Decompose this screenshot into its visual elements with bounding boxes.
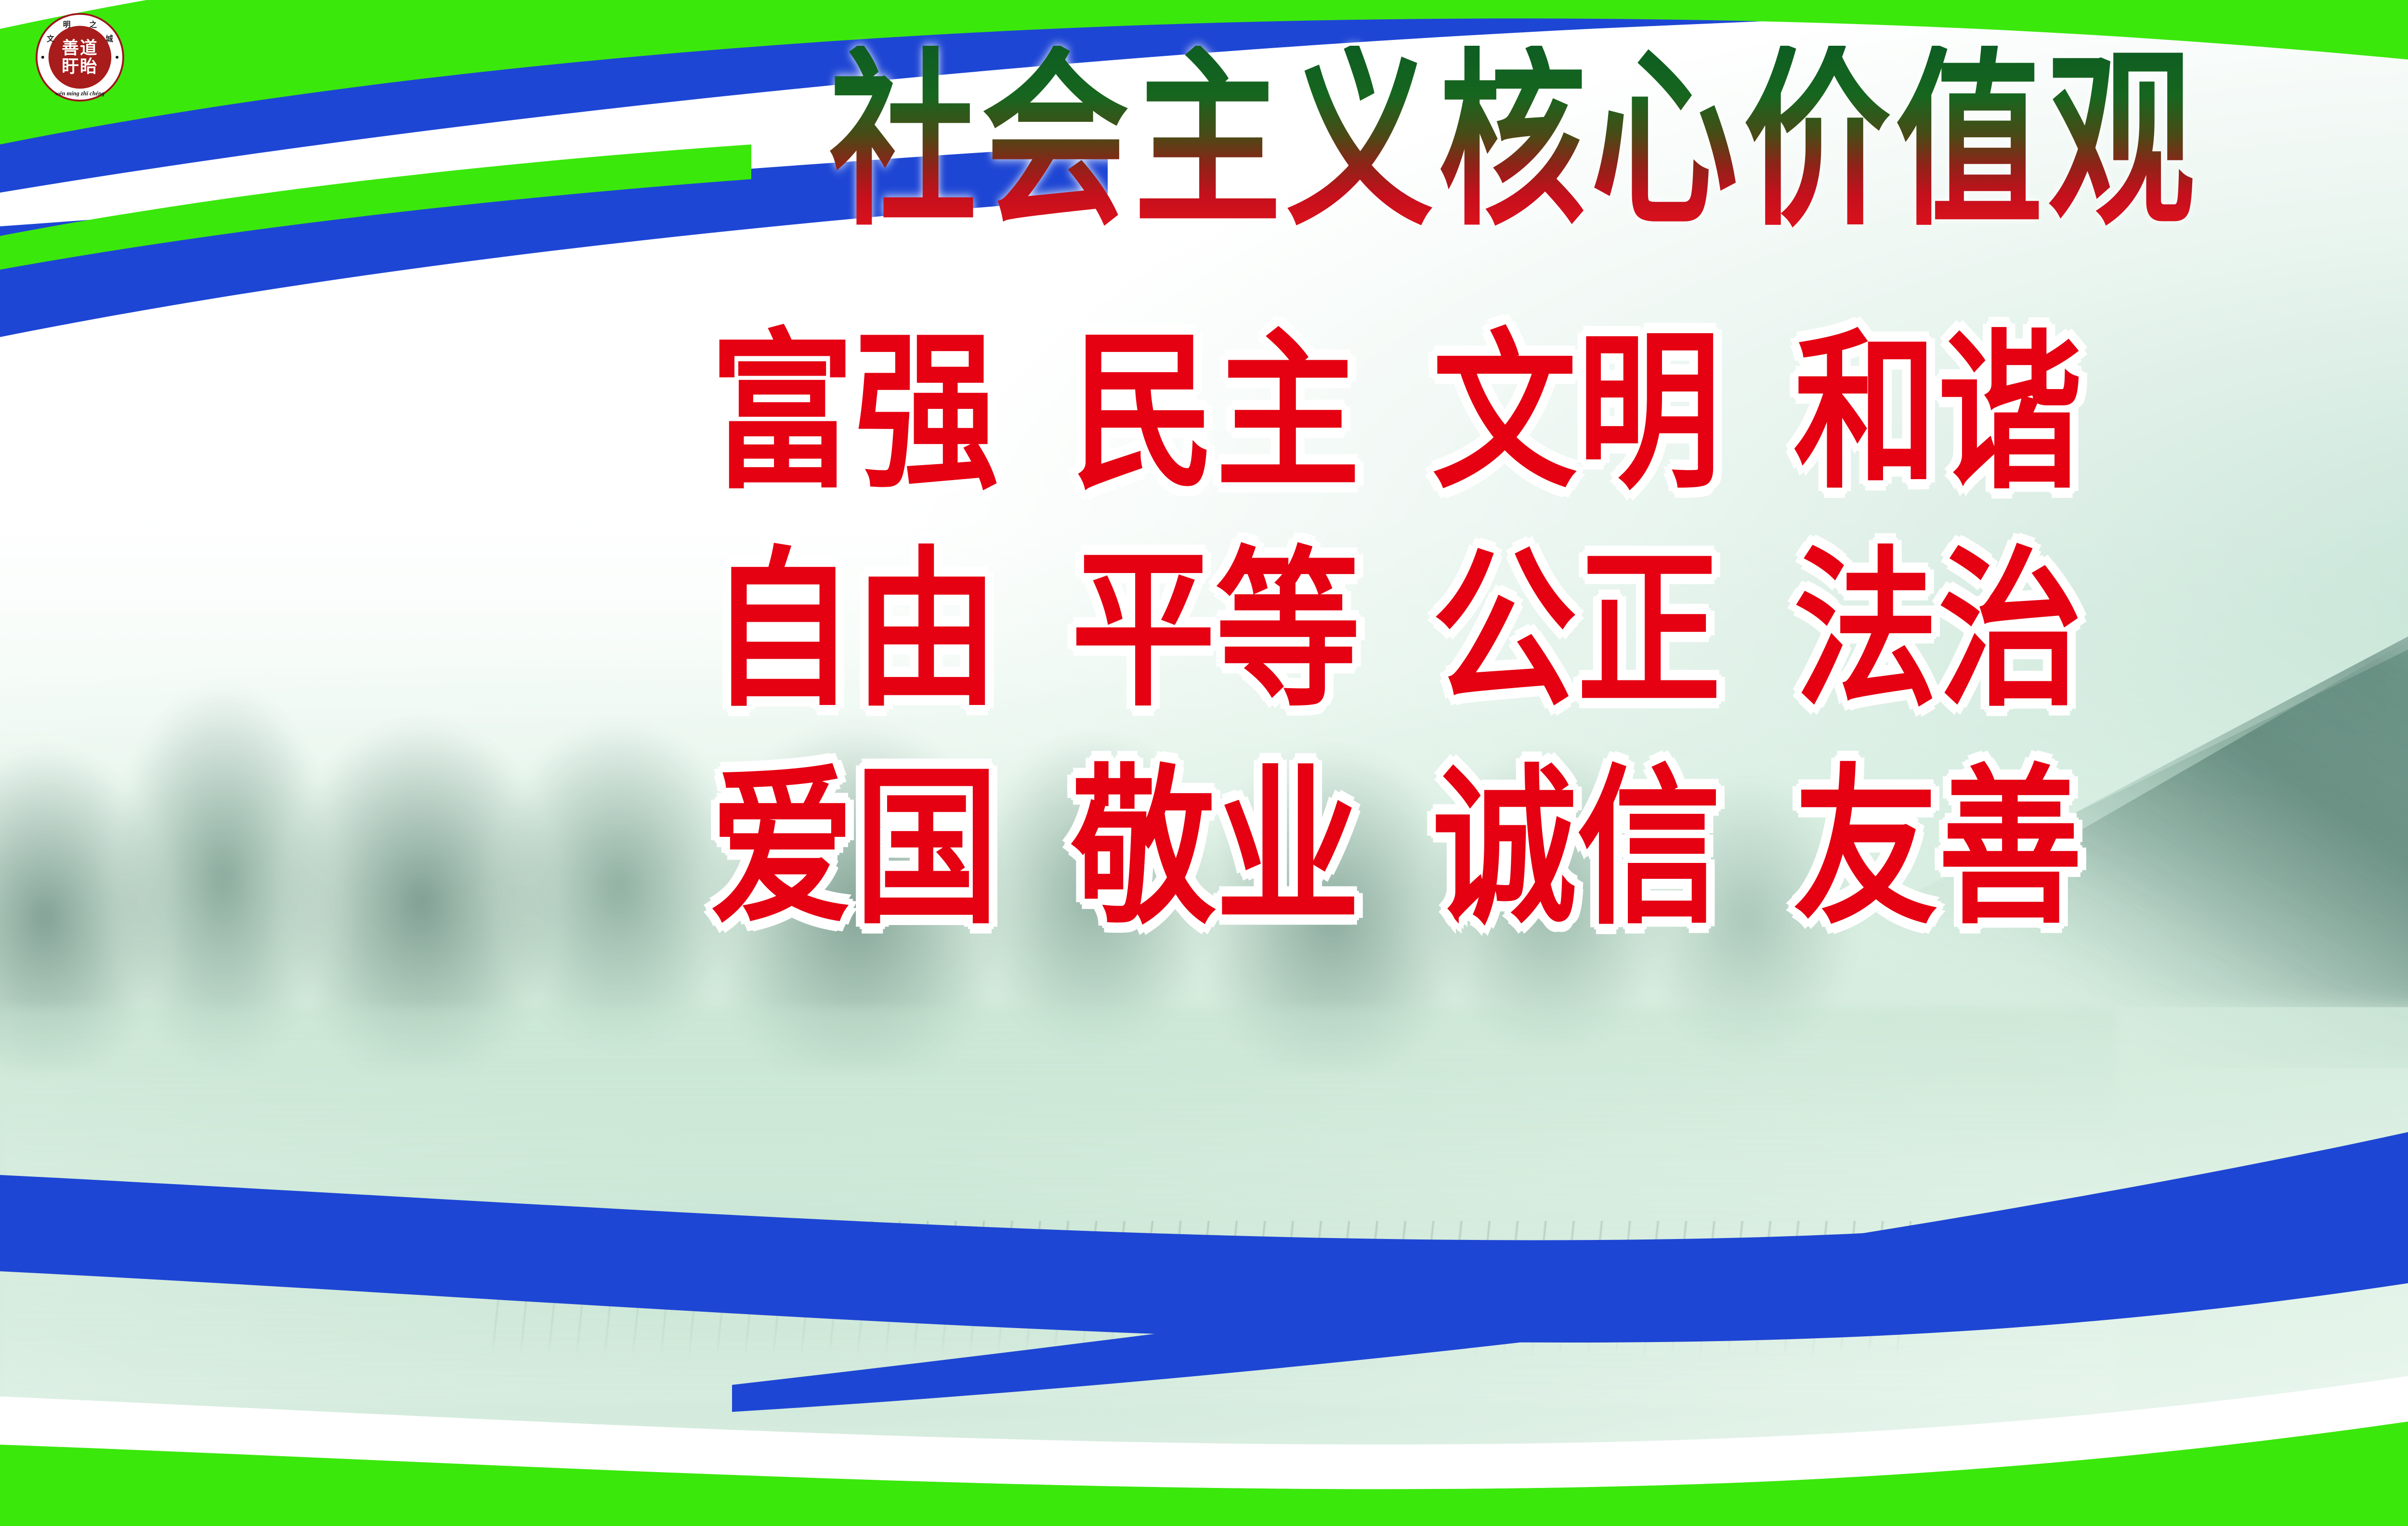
socialist-core-values-banner: 文 明 之 城 善道 盱眙 wén míng zhī chéng 社会主义核心价… bbox=[0, 0, 2408, 1526]
value-word: 富强 bbox=[710, 328, 999, 498]
value-word: 自由 bbox=[710, 546, 999, 716]
core-values-list: 富强民主文明和谐 自由平等公正法治 爱国敬业诚信友善 bbox=[710, 328, 2408, 908]
value-word: 敬业 bbox=[1071, 763, 1360, 934]
seal-center-line2: 盱眙 bbox=[46, 58, 115, 75]
seal-center-text: 善道 盱眙 bbox=[46, 39, 115, 75]
value-word: 爱国 bbox=[710, 763, 999, 934]
seal-center-line1: 善道 bbox=[46, 39, 115, 56]
seal-pinyin: wén míng zhī chéng bbox=[55, 90, 105, 97]
value-word: 平等 bbox=[1071, 546, 1360, 716]
seal-ring-char-2: 之 bbox=[90, 21, 97, 28]
value-word: 和谐 bbox=[1793, 328, 2082, 498]
value-row-1: 富强民主文明和谐 bbox=[710, 328, 2408, 498]
value-word: 法治 bbox=[1793, 546, 2082, 716]
seal-ring-char-1: 明 bbox=[63, 21, 71, 28]
value-row-3: 爱国敬业诚信友善 bbox=[710, 763, 2408, 934]
seal-logo[interactable]: 文 明 之 城 善道 盱眙 wén míng zhī chéng bbox=[36, 13, 124, 102]
value-word: 公正 bbox=[1432, 546, 1721, 716]
page-title: 社会主义核心价值观 bbox=[829, 46, 2200, 236]
value-word: 民主 bbox=[1071, 328, 1360, 498]
value-row-2: 自由平等公正法治 bbox=[710, 546, 2408, 716]
value-word: 文明 bbox=[1432, 328, 1721, 498]
value-word: 诚信 bbox=[1432, 763, 1721, 934]
value-word: 友善 bbox=[1793, 763, 2082, 934]
